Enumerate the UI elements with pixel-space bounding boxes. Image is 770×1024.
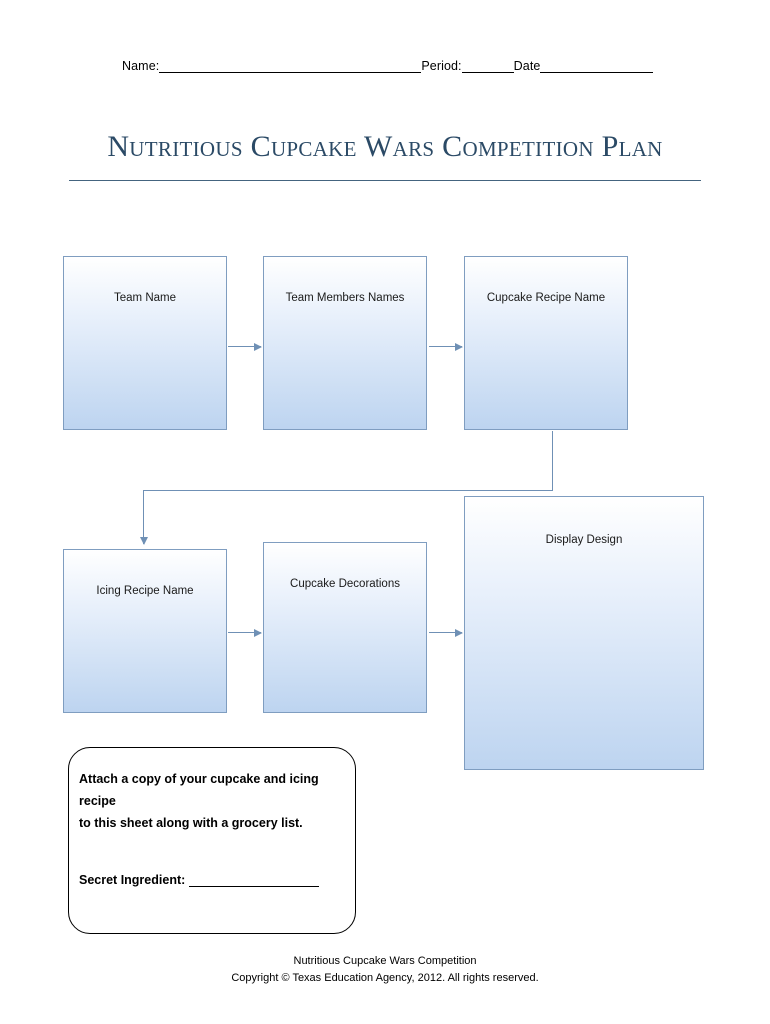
title-divider [69, 180, 701, 181]
box-display-design[interactable]: Display Design [464, 496, 704, 770]
name-label: Name: [122, 59, 159, 73]
box-icing-recipe-label: Icing Recipe Name [70, 584, 220, 598]
arrow-right-icon [228, 632, 261, 633]
secret-ingredient-input-line[interactable] [189, 873, 319, 887]
date-input-line[interactable] [540, 59, 653, 73]
footer-line-1: Nutritious Cupcake Wars Competition [0, 953, 770, 970]
page-footer: Nutritious Cupcake Wars Competition Copy… [0, 953, 770, 987]
period-input-line[interactable] [462, 59, 514, 73]
box-cupcake-recipe-label: Cupcake Recipe Name [471, 291, 621, 305]
arrow-right-icon [429, 632, 462, 633]
page-title: Nutritious Cupcake Wars Competition Plan [0, 130, 770, 164]
date-label: Date [514, 59, 541, 73]
box-display-design-label: Display Design [471, 533, 697, 547]
box-team-name-label: Team Name [70, 291, 220, 305]
box-cupcake-decorations[interactable]: Cupcake Decorations [263, 542, 427, 713]
arrow-right-icon [228, 346, 261, 347]
arrow-right-icon [429, 346, 462, 347]
box-team-members[interactable]: Team Members Names [263, 256, 427, 430]
instructions-line-1: Attach a copy of your cupcake and icing … [79, 768, 347, 812]
instructions-line-2: to this sheet along with a grocery list. [79, 812, 347, 834]
name-input-line[interactable] [159, 59, 421, 73]
worksheet-page: Name:Period:Date Nutritious Cupcake Wars… [0, 0, 770, 1024]
arrow-down-icon [143, 491, 144, 544]
box-cupcake-recipe[interactable]: Cupcake Recipe Name [464, 256, 628, 430]
footer-line-2: Copyright © Texas Education Agency, 2012… [0, 970, 770, 987]
instructions-note-box: Attach a copy of your cupcake and icing … [68, 747, 356, 934]
box-icing-recipe[interactable]: Icing Recipe Name [63, 549, 227, 713]
box-team-members-label: Team Members Names [270, 291, 420, 305]
box-cupcake-decorations-label: Cupcake Decorations [270, 577, 420, 591]
secret-ingredient-label: Secret Ingredient: [79, 873, 185, 887]
connector-segment-vertical [552, 431, 553, 491]
secret-ingredient-row: Secret Ingredient: [79, 873, 319, 887]
student-info-row: Name:Period:Date [122, 59, 652, 73]
period-label: Period: [421, 59, 461, 73]
connector-segment-horizontal [143, 490, 553, 491]
instructions-text: Attach a copy of your cupcake and icing … [79, 768, 347, 834]
box-team-name[interactable]: Team Name [63, 256, 227, 430]
